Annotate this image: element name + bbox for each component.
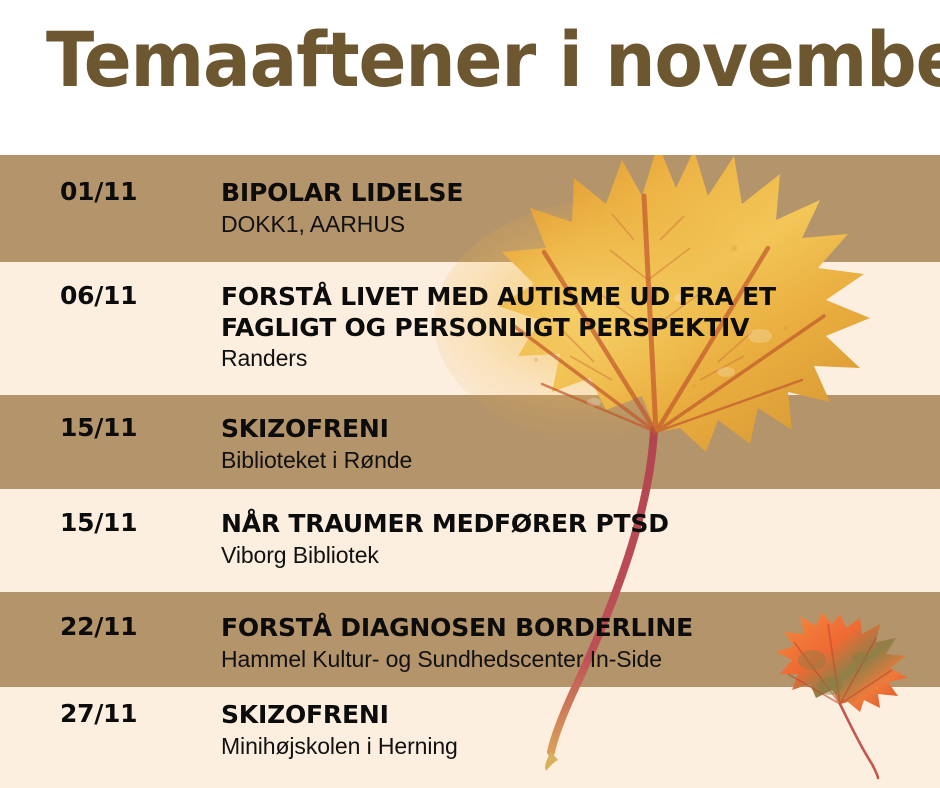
event-date: 15/11 [60, 509, 210, 537]
event-venue: Hammel Kultur- og Sundhedscenter In-Side [221, 646, 921, 674]
event-venue: Viborg Bibliotek [221, 542, 921, 570]
event-venue: Randers [221, 345, 921, 373]
event-date: 22/11 [60, 613, 210, 641]
event-title: FORSTÅ LIVET MED AUTISME UD FRA ET FAGLI… [221, 282, 921, 343]
event-venue: DOKK1, AARHUS [221, 211, 921, 239]
event-title: SKIZOFRENI [221, 700, 921, 731]
event-body: NÅR TRAUMER MEDFØRER PTSDViborg Bibliote… [221, 509, 921, 569]
page-title: Temaaftener i november [46, 22, 940, 98]
event-title: BIPOLAR LIDELSE [221, 178, 921, 209]
poster-header: Temaaftener i november [0, 0, 940, 155]
event-venue: Minihøjskolen i Herning [221, 733, 921, 761]
poster: Temaaftener i november 01/11BIPOLAR LIDE… [0, 0, 940, 788]
event-body: SKIZOFRENIBiblioteket i Rønde [221, 414, 921, 474]
event-title: NÅR TRAUMER MEDFØRER PTSD [221, 509, 921, 540]
event-title: SKIZOFRENI [221, 414, 921, 445]
event-body: BIPOLAR LIDELSEDOKK1, AARHUS [221, 178, 921, 238]
event-title: FORSTÅ DIAGNOSEN BORDERLINE [221, 613, 921, 644]
event-date: 27/11 [60, 700, 210, 728]
event-body: FORSTÅ LIVET MED AUTISME UD FRA ET FAGLI… [221, 282, 921, 373]
event-date: 01/11 [60, 178, 210, 206]
event-body: SKIZOFRENIMinihøjskolen i Herning [221, 700, 921, 760]
event-body: FORSTÅ DIAGNOSEN BORDERLINEHammel Kultur… [221, 613, 921, 673]
event-venue: Biblioteket i Rønde [221, 447, 921, 475]
event-date: 15/11 [60, 414, 210, 442]
event-date: 06/11 [60, 282, 210, 310]
